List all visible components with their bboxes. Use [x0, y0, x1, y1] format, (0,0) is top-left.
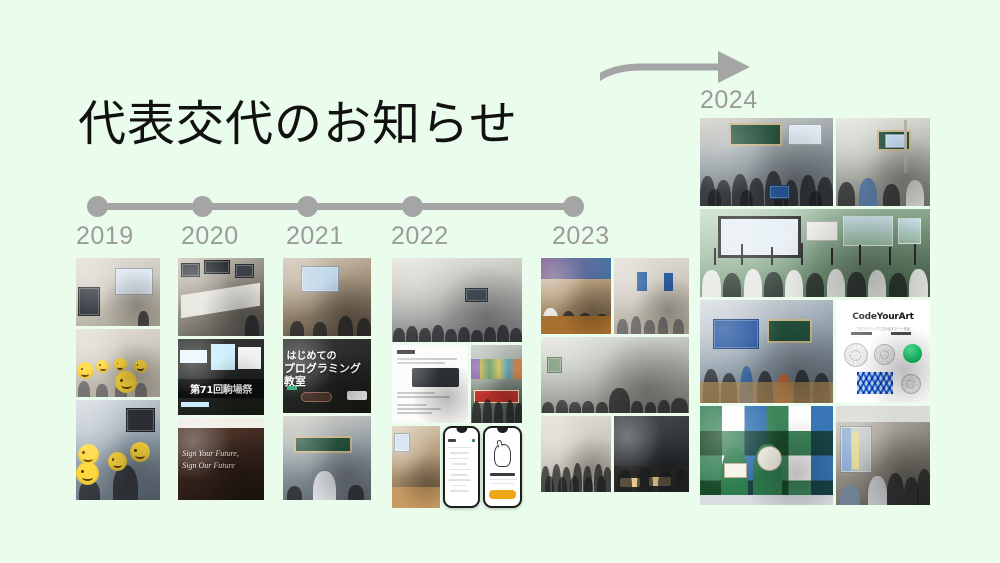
presentation-viewing-photo[interactable]: [836, 406, 930, 505]
row-award: [700, 406, 930, 505]
app-mockup-list-phone[interactable]: [443, 426, 480, 508]
smiley-overlay-icon: [114, 358, 127, 371]
sign-your-future-photo[interactable]: Sign Your Future, Sign Our Future: [178, 418, 264, 500]
smiley-overlay-icon: [130, 442, 150, 462]
photo-grid-2024: CodeYourArt プログラミングで生み出すアート作品: [700, 118, 930, 505]
classroom-with-projector-photo[interactable]: [76, 258, 160, 326]
codeyourart-subtitle: プログラミングで生み出すアート作品: [836, 326, 930, 331]
makerspace-lecture-photo[interactable]: [836, 118, 930, 206]
smiley-overlay-icon: [96, 360, 109, 373]
phones-row: [392, 426, 522, 508]
programming-class-line1: はじめての: [287, 351, 371, 363]
api-doc-row: [392, 345, 522, 423]
triangle-pattern-shape: [857, 372, 893, 394]
photo-column-2019: [76, 258, 160, 500]
seated-students-emoji-photo[interactable]: [76, 329, 160, 397]
photo-column-2021: はじめての プログラミング教室: [283, 258, 371, 500]
packed-lecture-blackboard-photo[interactable]: [700, 118, 833, 206]
smiley-overlay-icon: [108, 452, 127, 471]
workshop-table-photo[interactable]: [392, 426, 440, 508]
programming-class-line2: プログラミング教室: [284, 363, 371, 388]
computer-lab-desks-photo[interactable]: [178, 258, 264, 336]
hands-on-making-photo[interactable]: [541, 258, 611, 334]
row-class-and-art: CodeYourArt プログラミングで生み出すアート作品: [700, 300, 930, 403]
smiley-overlay-icon: [134, 360, 147, 373]
app-mockup-cat-phone[interactable]: [483, 426, 522, 508]
codeyourart-logo-text: CodeYourArt: [836, 312, 930, 322]
group-photo-stage[interactable]: [541, 416, 611, 492]
school-students-raising-hands-photo[interactable]: [700, 209, 930, 297]
spirograph-pattern-icon: [901, 374, 921, 394]
classroom-lecture-wide-photo[interactable]: [541, 337, 689, 413]
dinner-gathering-photo[interactable]: [614, 416, 689, 492]
komabasai-banner-photo[interactable]: 第71回駒場祭: [178, 339, 264, 415]
group-laptop-emoji-photo[interactable]: [76, 400, 160, 500]
slide-canvas: 代表交代のお知らせ 2019 2020 2021 2022 2023 2024: [0, 0, 1000, 563]
photo-column-2020: 第71回駒場祭 Sign Your Future, Sign Our Futur…: [178, 258, 264, 500]
green-circle-shape: [903, 344, 922, 363]
codeyourart-slide[interactable]: CodeYourArt プログラミングで生み出すアート作品: [836, 300, 930, 403]
coworking-workshop-photo[interactable]: [283, 258, 371, 336]
cat-illustration-icon: [494, 444, 511, 467]
auditorium-event-photo[interactable]: [392, 258, 522, 342]
photo-collage: 第71回駒場祭 Sign Your Future, Sign Our Futur…: [0, 0, 1000, 563]
spirograph-pattern-icon: [874, 344, 895, 365]
large-lecture-hall-photo[interactable]: [283, 416, 371, 500]
hub-api-document-photo[interactable]: [392, 345, 468, 423]
row-lectures: [700, 118, 930, 206]
smiley-overlay-icon: [76, 462, 99, 485]
programming-class-banner-photo[interactable]: はじめての プログラミング教室: [283, 339, 371, 413]
hands-on-row: [541, 258, 689, 334]
party-row: [541, 416, 689, 492]
photo-column-2022: [392, 258, 522, 508]
komabasai-title-text: 第71回駒場祭: [178, 379, 264, 398]
primary-cta-button[interactable]: [489, 490, 516, 499]
cafeteria-workshop-photo[interactable]: [614, 258, 689, 334]
blue-slide-classroom-photo[interactable]: [700, 300, 833, 403]
sign-your-future-text: Sign Your Future, Sign Our Future: [182, 448, 259, 472]
spirograph-pattern-icon: [844, 343, 868, 367]
award-banner-group-photo[interactable]: [471, 345, 522, 423]
award-certificate: [724, 463, 747, 478]
photo-column-2023: [541, 258, 689, 492]
award-ceremony-photo[interactable]: [700, 406, 833, 505]
